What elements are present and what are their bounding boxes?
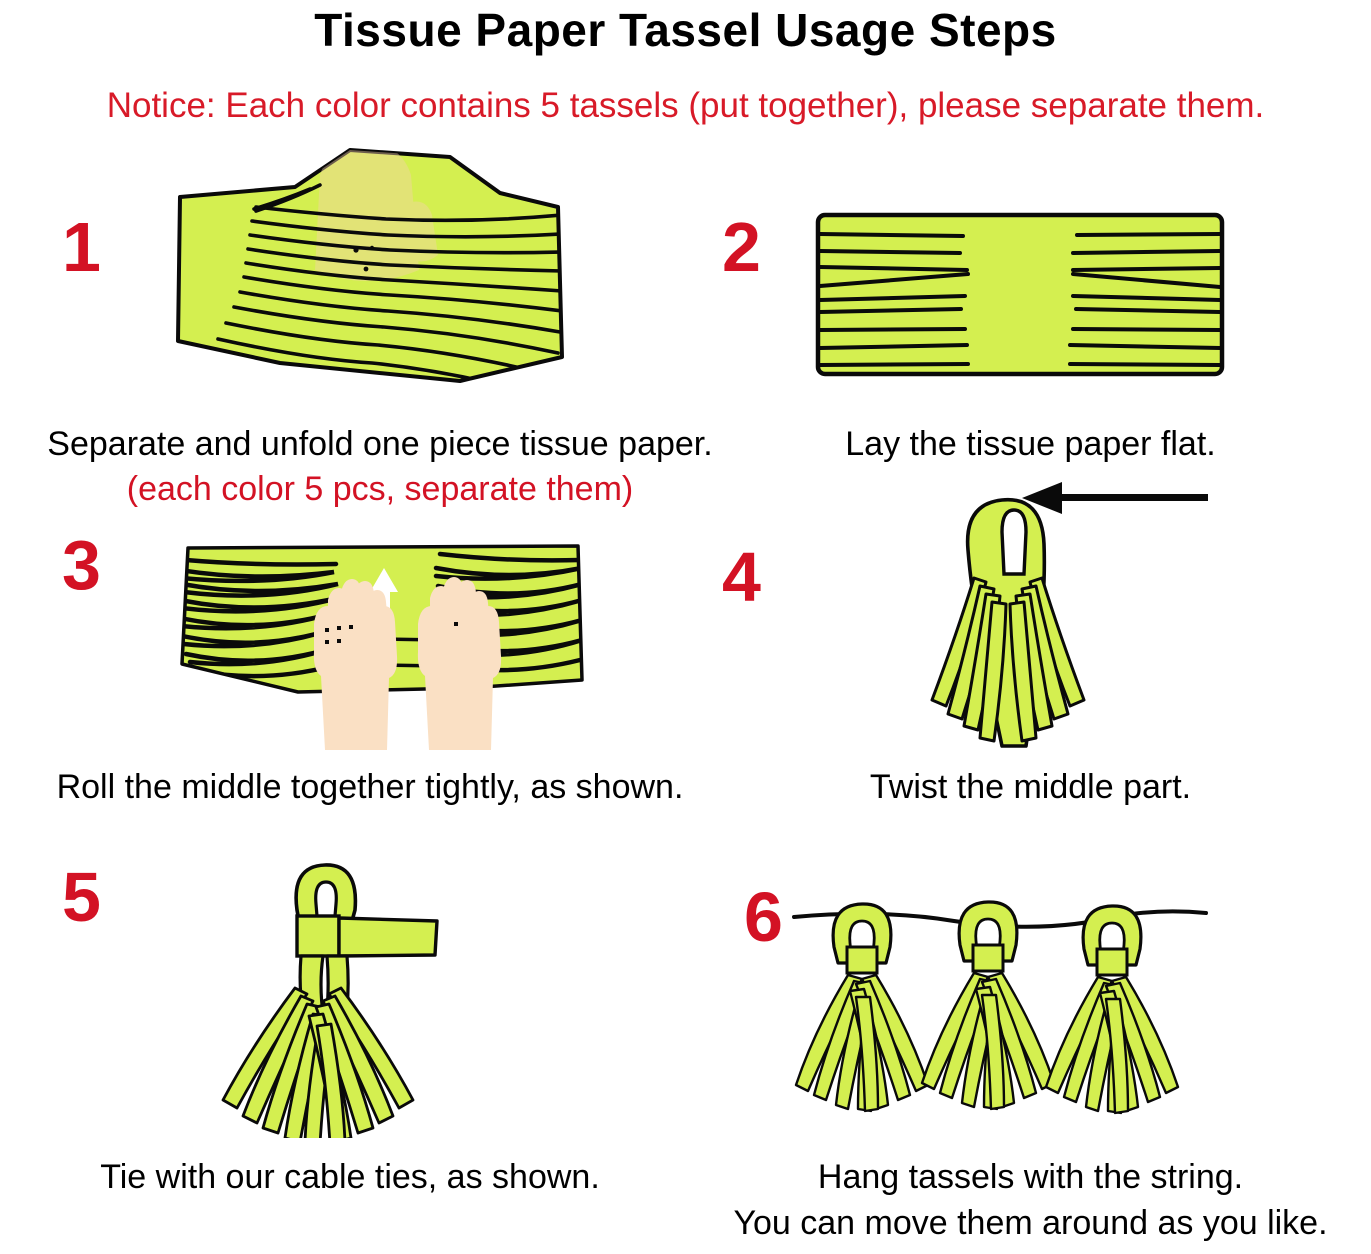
step-5-caption: Tie with our cable ties, as shown.: [0, 1156, 700, 1198]
illustration-folded-tassel-loop: [890, 470, 1160, 750]
step-4-caption: Twist the middle part.: [690, 766, 1371, 808]
step-6-sub-caption: You can move them around as you like.: [690, 1202, 1371, 1244]
step-1-sub-caption: (each color 5 pcs, separate them): [0, 468, 760, 510]
illustration-hand-holding-fringed-tissue-paper: [160, 145, 580, 395]
illustration-tassel-with-cable-tie: [215, 838, 515, 1138]
step-6-caption: Hang tassels with the string.: [690, 1156, 1371, 1198]
step-number-5: 5: [62, 862, 101, 932]
step-number-6: 6: [744, 882, 783, 952]
page-title: Tissue Paper Tassel Usage Steps: [0, 2, 1371, 58]
step-2-caption: Lay the tissue paper flat.: [690, 423, 1371, 465]
illustration-flat-fringed-tissue-paper: [815, 212, 1225, 377]
step-number-4: 4: [722, 542, 761, 612]
step-number-1: 1: [62, 212, 101, 282]
step-number-2: 2: [722, 212, 761, 282]
step-3-caption: Roll the middle together tightly, as sho…: [0, 766, 740, 808]
step-1-caption: Separate and unfold one piece tissue pap…: [0, 423, 760, 465]
step-number-3: 3: [62, 530, 101, 600]
illustration-three-tassels-hanging-on-string: [790, 885, 1210, 1135]
illustration-two-hands-rolling-middle-with-up-arrow: [178, 540, 598, 760]
notice-text: Notice: Each color contains 5 tassels (p…: [0, 84, 1371, 128]
